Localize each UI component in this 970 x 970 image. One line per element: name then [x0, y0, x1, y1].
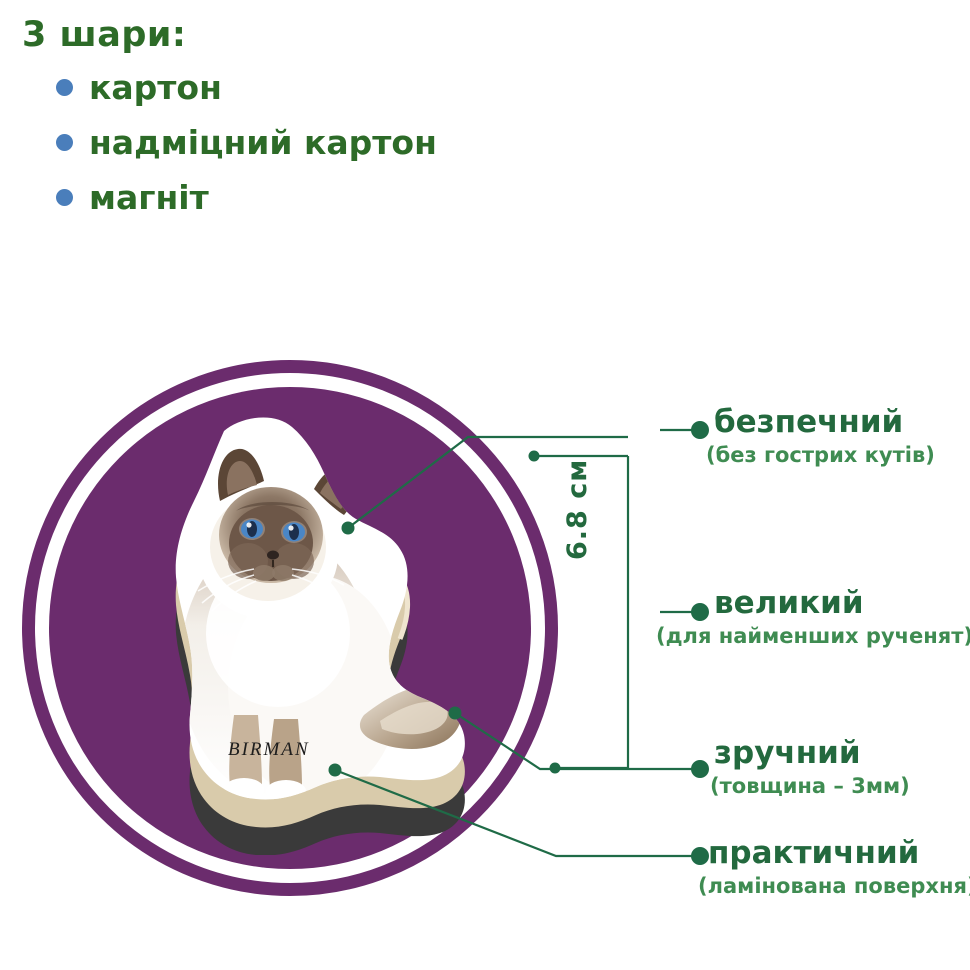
layers-section: 3 шари: картон надміцний картон магніт	[22, 18, 542, 236]
layer-label: надміцний картон	[89, 126, 437, 159]
layer-label: картон	[89, 71, 222, 104]
list-item: магніт	[22, 181, 542, 214]
annotation-title: зручний	[714, 738, 910, 769]
annotation-title: безпечний	[714, 407, 935, 438]
annotation-subtitle: (без гострих кутів)	[706, 445, 935, 466]
annotation-large: великий (для найменших рученят)	[714, 588, 970, 647]
magnet-card-stack: BIRMAN	[128, 415, 508, 855]
annotation-subtitle: (для найменших рученят)	[656, 626, 970, 647]
card-layer-print: BIRMAN	[176, 417, 465, 802]
layers-list: картон надміцний картон магніт	[22, 71, 542, 214]
leader-dot-safe	[691, 421, 709, 439]
list-item: надміцний картон	[22, 126, 542, 159]
annotation-subtitle: (товщина – 3мм)	[710, 776, 910, 797]
annotation-subtitle: (ламінована поверхня)	[698, 876, 970, 897]
bullet-dot-icon	[56, 189, 73, 206]
breed-label: BIRMAN	[228, 739, 310, 760]
layer-label: магніт	[89, 181, 209, 214]
layers-title: 3 шари:	[22, 18, 542, 53]
leader-dot-practical	[691, 847, 709, 865]
infographic-canvas: 3 шари: картон надміцний картон магніт	[0, 0, 970, 970]
annotation-safe: безпечний (без гострих кутів)	[714, 407, 935, 466]
leader-dot-large	[691, 603, 709, 621]
bullet-dot-icon	[56, 79, 73, 96]
bullet-dot-icon	[56, 134, 73, 151]
list-item: картон	[22, 71, 542, 104]
annotation-title: великий	[714, 588, 970, 619]
annotation-practical: практичний (ламінована поверхня)	[708, 838, 970, 897]
dimension-label: 6.8 см	[562, 459, 593, 560]
leader-dot-convenient	[691, 760, 709, 778]
annotation-convenient: зручний (товщина – 3мм)	[714, 738, 910, 797]
annotation-title: практичний	[708, 838, 970, 869]
